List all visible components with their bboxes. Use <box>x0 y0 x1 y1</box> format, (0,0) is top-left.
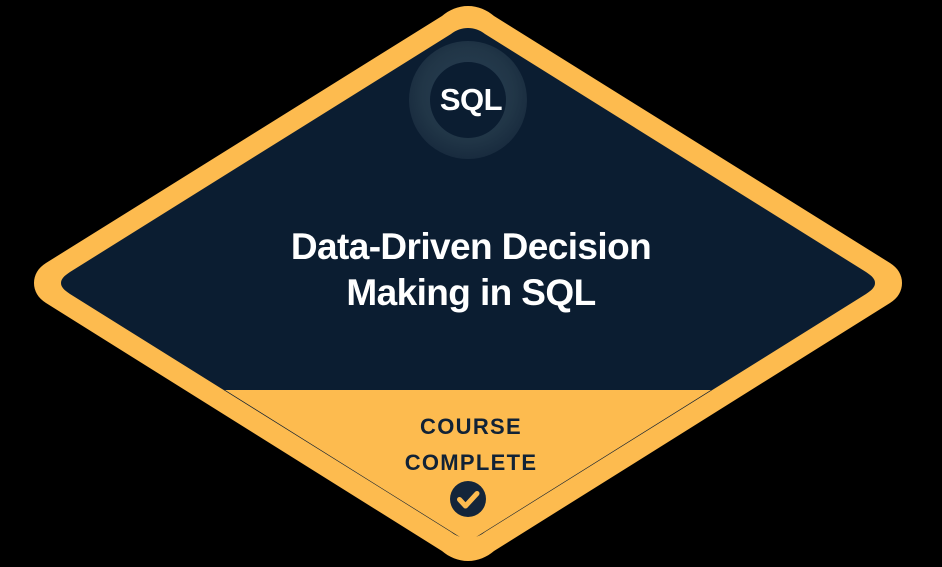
course-completion-badge: SQL Data-Driven Decision Making in SQL C… <box>0 0 942 567</box>
check-circle-icon <box>450 481 486 517</box>
sql-logo-ring <box>409 41 527 159</box>
badge-shape <box>0 0 942 567</box>
